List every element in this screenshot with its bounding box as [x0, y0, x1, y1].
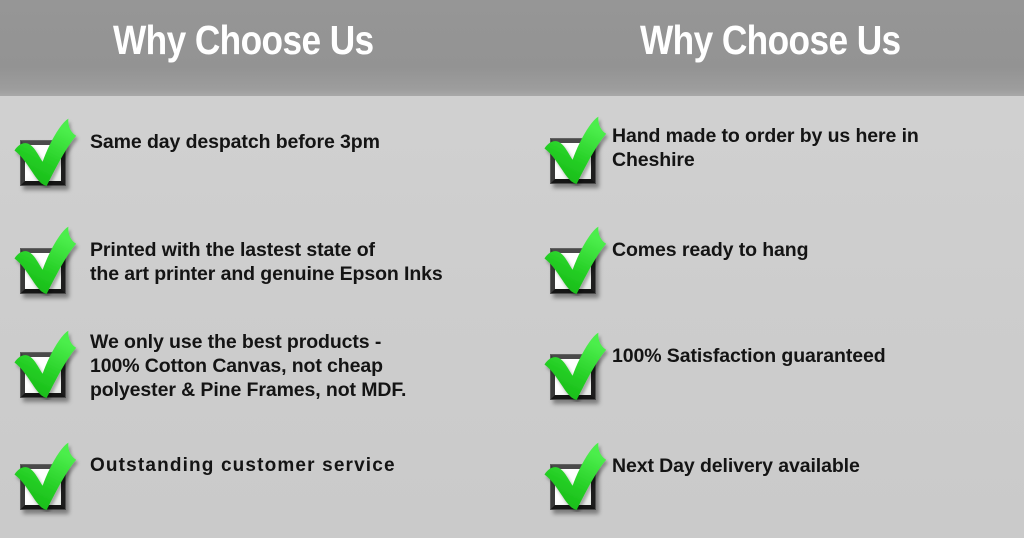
feature-text: Outstanding customer service	[90, 454, 396, 478]
check-mark-icon	[10, 226, 84, 296]
feature-text: Comes ready to hang	[612, 238, 808, 262]
green-check-box-icon	[10, 330, 84, 400]
check-mark-icon	[540, 442, 614, 512]
header-band: Why Choose Us Why Choose Us	[0, 0, 1024, 96]
green-check-box-icon	[540, 442, 614, 512]
page-title-left: Why Choose Us	[113, 17, 374, 63]
check-mark-icon	[10, 442, 84, 512]
feature-item: We only use the best products - 100% Cot…	[0, 330, 406, 402]
feature-item: Same day despatch before 3pm	[0, 118, 380, 188]
feature-text: Hand made to order by us here in Cheshir…	[612, 124, 919, 172]
check-mark-icon	[540, 116, 614, 186]
right-column: Hand made to order by us here in Cheshir…	[512, 96, 1024, 538]
feature-text: 100% Satisfaction guaranteed	[612, 344, 886, 368]
green-check-box-icon	[540, 226, 614, 296]
feature-text: Next Day delivery available	[612, 454, 860, 478]
feature-item: Next Day delivery available	[512, 442, 860, 512]
feature-item: 100% Satisfaction guaranteed	[512, 332, 886, 402]
check-mark-icon	[10, 330, 84, 400]
left-column: Same day despatch before 3pmPrinted with…	[0, 96, 512, 538]
header-right: Why Choose Us	[512, 0, 1024, 92]
green-check-box-icon	[540, 116, 614, 186]
check-mark-icon	[10, 118, 84, 188]
green-check-box-icon	[10, 226, 84, 296]
check-mark-icon	[540, 226, 614, 296]
feature-item: Hand made to order by us here in Cheshir…	[512, 116, 919, 186]
feature-columns: Same day despatch before 3pmPrinted with…	[0, 96, 1024, 538]
feature-item: Comes ready to hang	[512, 226, 808, 296]
feature-item: Printed with the lastest state of the ar…	[0, 226, 443, 296]
green-check-box-icon	[10, 442, 84, 512]
header-left: Why Choose Us	[0, 0, 512, 92]
why-choose-us-banner: Why Choose Us Why Choose Us Same day des…	[0, 0, 1024, 538]
feature-text: Same day despatch before 3pm	[90, 130, 380, 154]
green-check-box-icon	[540, 332, 614, 402]
feature-item: Outstanding customer service	[0, 442, 396, 512]
check-mark-icon	[540, 332, 614, 402]
green-check-box-icon	[10, 118, 84, 188]
page-title-right: Why Choose Us	[640, 17, 901, 63]
feature-text: Printed with the lastest state of the ar…	[90, 238, 443, 286]
feature-text: We only use the best products - 100% Cot…	[90, 330, 406, 402]
